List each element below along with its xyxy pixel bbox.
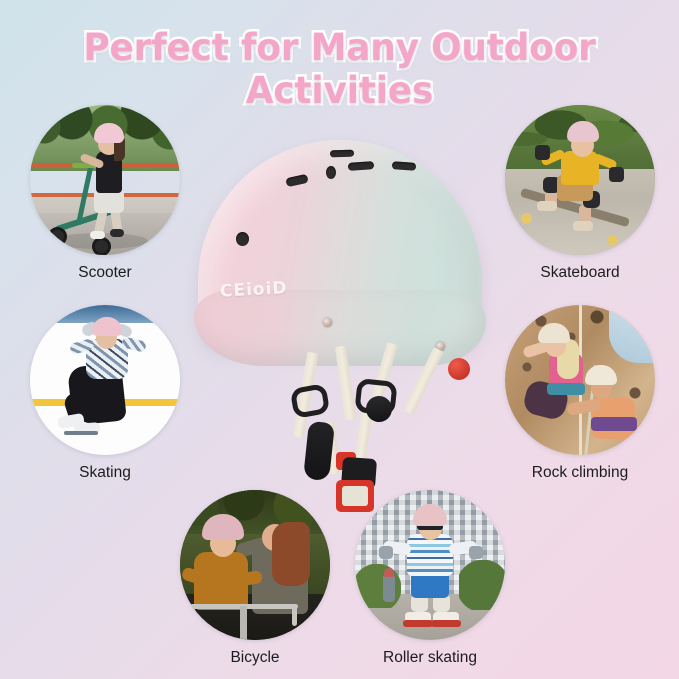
- title-container: Perfect for Many Outdoor Activities: [0, 26, 679, 112]
- activity-photo-scooter: [30, 105, 180, 255]
- activity-label-rock-climbing: Rock climbing: [505, 464, 655, 482]
- rivet-icon: [323, 318, 332, 327]
- activity-photo-bicycle: [180, 490, 330, 640]
- activity-photo-rock-climbing: [505, 305, 655, 455]
- activity-label-scooter: Scooter: [30, 264, 180, 282]
- activity-item-bicycle: Bicycle: [180, 490, 330, 667]
- activity-photo-skating: [30, 305, 180, 455]
- strap-slider: [290, 383, 331, 419]
- activity-item-skating: Skating: [30, 305, 180, 482]
- activity-item-rock-climbing: Rock climbing: [505, 305, 655, 482]
- activity-photo-roller-skating: [355, 490, 505, 640]
- vent-icon: [392, 161, 416, 171]
- activity-label-bicycle: Bicycle: [180, 649, 330, 667]
- vent-icon: [326, 166, 336, 179]
- helmet-product-image: CEioiD: [180, 140, 500, 510]
- activity-label-skateboard: Skateboard: [505, 264, 655, 282]
- activity-item-scooter: Scooter: [30, 105, 180, 282]
- page-title: Perfect for Many Outdoor Activities: [10, 26, 669, 112]
- brand-logo: CEioiD: [220, 278, 289, 302]
- activity-item-roller-skating: Roller skating: [355, 490, 505, 667]
- activity-photo-skateboard: [505, 105, 655, 255]
- vent-icon: [236, 232, 249, 246]
- rear-adjuster-dial: [448, 358, 470, 380]
- activity-item-skateboard: Skateboard: [505, 105, 655, 282]
- vent-icon: [330, 150, 354, 158]
- product-infographic: Perfect for Many Outdoor Activities CEio…: [0, 0, 679, 679]
- activity-label-skating: Skating: [30, 464, 180, 482]
- activity-label-roller-skating: Roller skating: [355, 649, 505, 667]
